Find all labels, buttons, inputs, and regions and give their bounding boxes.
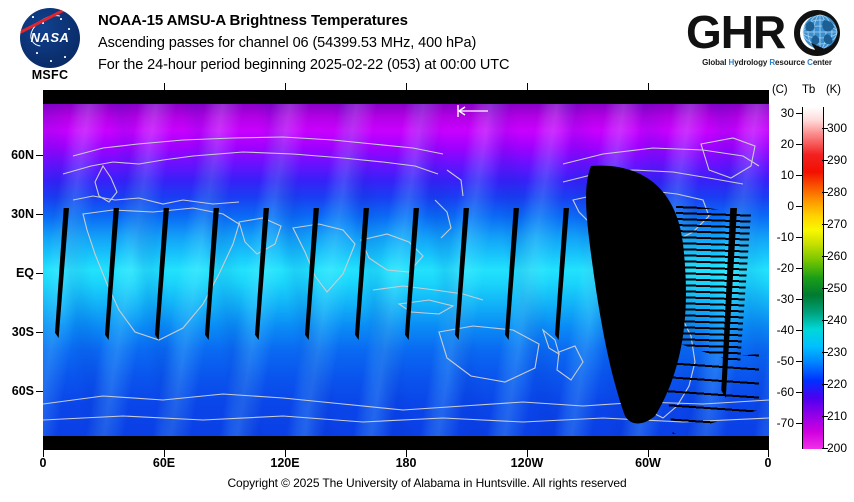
x-axis-label-120e: 120E (261, 456, 309, 470)
colorbar-celsius-m20: -20 (768, 261, 794, 275)
colorbar-celsius-m30: -30 (768, 292, 794, 306)
colorbar-kelvin-250: 250 (827, 281, 854, 295)
colorbar-kelvin-280: 280 (827, 185, 854, 199)
nasa-disc: NASA (20, 8, 80, 68)
ghrc-logo: GHR Global Hydrology Re (684, 8, 850, 78)
map-plot-area (43, 90, 769, 450)
colorbar-celsius-m70: -70 (768, 416, 794, 430)
colorbar-celsius-30: 30 (768, 106, 794, 120)
colorbar-celsius-m40: -40 (768, 323, 794, 337)
colorbar-kelvin-290: 290 (827, 153, 854, 167)
colorbar-celsius-m50: -50 (768, 354, 794, 368)
svg-text:GHR: GHR (686, 8, 786, 58)
colorbar-celsius-m60: -60 (768, 385, 794, 399)
nasa-center-label: MSFC (12, 68, 88, 82)
large-data-gap-region (43, 104, 769, 436)
colorbar-celsius-10: 10 (768, 168, 794, 182)
x-axis-label-180: 180 (386, 456, 426, 470)
colorbar-kelvin-230: 230 (827, 345, 854, 359)
colorbar-kelvin-240: 240 (827, 313, 854, 327)
colorbar-kelvin-260: 260 (827, 249, 854, 263)
ghrc-letters-icon: GHR (684, 8, 850, 58)
colorbar-kelvin-270: 270 (827, 217, 854, 231)
x-axis-label-60e: 60E (144, 456, 184, 470)
x-axis-label-0-end: 0 (753, 456, 783, 470)
y-axis-label-30n: 30N (0, 207, 34, 221)
y-axis-label-60n: 60N (0, 148, 34, 162)
y-axis-label-60s: 60S (0, 384, 34, 398)
colorbar-unit-kelvin: (K) (826, 84, 841, 96)
colorbar-gradient (802, 107, 824, 449)
x-axis-label-120w: 120W (503, 456, 551, 470)
y-axis-label-30s: 30S (0, 325, 34, 339)
brightness-temperature-map (43, 104, 769, 436)
copyright-notice: Copyright © 2025 The University of Alaba… (0, 476, 854, 490)
colorbar-unit-celsius: (C) (772, 84, 787, 96)
colorbar-kelvin-300: 300 (827, 121, 854, 135)
x-axis-label-60w: 60W (628, 456, 668, 470)
page-title: NOAA-15 AMSU-A Brightness Temperatures (98, 10, 688, 32)
x-axis-label-0: 0 (28, 456, 58, 470)
nasa-wordmark: NASA (26, 30, 74, 45)
colorbar-kelvin-200: 200 (827, 441, 854, 455)
colorbar-variable: Tb (802, 84, 815, 96)
partial-data-stripes (673, 204, 751, 364)
colorbar-kelvin-220: 220 (827, 377, 854, 391)
colorbar-celsius-m10: -10 (768, 230, 794, 244)
nasa-meatball-icon: NASA MSFC (12, 6, 88, 84)
title-subline-channel: Ascending passes for channel 06 (54399.5… (98, 32, 688, 54)
figure-root: NASA MSFC NOAA-15 AMSU-A Brightness Temp… (0, 0, 854, 502)
colorbar-celsius-0: 0 (768, 199, 794, 213)
title-block: NOAA-15 AMSU-A Brightness Temperatures A… (98, 10, 688, 76)
orbit-start-marker-icon (456, 104, 490, 118)
colorbar-kelvin-210: 210 (827, 409, 854, 423)
title-subline-period: For the 24-hour period beginning 2025-02… (98, 54, 688, 76)
ghrc-subtitle: Global Hydrology Resource Center (686, 58, 848, 67)
colorbar-celsius-20: 20 (768, 137, 794, 151)
y-axis-label-eq: EQ (0, 266, 34, 280)
